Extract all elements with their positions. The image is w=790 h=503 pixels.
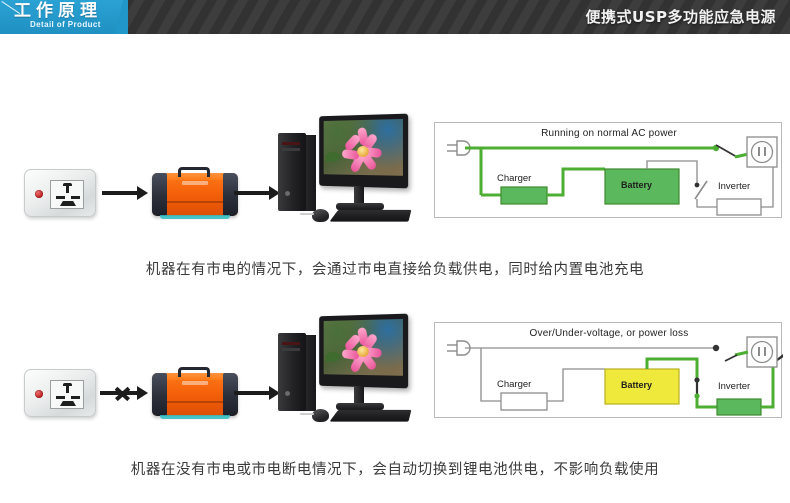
socket-outlet-face: [50, 380, 84, 409]
desktop-computer-load: [272, 111, 412, 226]
charger-input-line: [481, 348, 501, 401]
computer-tower: [278, 333, 306, 411]
section-tag-subtitle-en: Detail of Product: [30, 20, 101, 30]
inverter-output-line: [761, 163, 773, 207]
wall-socket: [24, 369, 96, 417]
desktop-computer-load: [272, 311, 412, 426]
computer-tower: [278, 133, 306, 211]
section-tag: 工作原理 Detail of Product: [0, 0, 128, 34]
socket-pin-left: [56, 396, 65, 399]
tower-drive-slot: [282, 148, 300, 151]
charger-box: [501, 187, 547, 204]
monitor-stand-neck: [354, 387, 364, 404]
powerbank-brand-label: [182, 381, 208, 385]
wallpaper-flower: [344, 132, 383, 171]
inverter-input-line-active: [697, 396, 717, 407]
inverter-output-line-active: [761, 363, 773, 407]
page-root: 工作原理 Detail of Product 便携式USP多功能应急电源: [0, 0, 790, 503]
inverter-input-line: [697, 199, 717, 207]
battery-label: Battery: [621, 380, 652, 390]
tower-drive-slot: [282, 342, 300, 345]
outlet-feed-line: [735, 352, 748, 355]
monitor-stand-neck: [354, 187, 364, 204]
circuit-schematic: [435, 123, 783, 219]
tower-power-led: [285, 191, 290, 196]
wallpaper-leaf: [325, 352, 340, 362]
product-title: 便携式USP多功能应急电源: [586, 7, 776, 27]
flower-center: [357, 146, 369, 157]
circuit-diagram-normal-ac: Running on normal AC power: [434, 122, 782, 218]
charger-to-battery-line: [547, 369, 605, 401]
arrow-shaft: [234, 191, 270, 195]
tower-drive-slot: [282, 142, 300, 145]
powerbank-base: [160, 215, 230, 219]
socket-pin-top: [66, 184, 69, 193]
socket-indicator-led: [35, 190, 43, 198]
charger-to-battery-line: [547, 169, 605, 195]
arrow-head: [137, 386, 148, 400]
inverter-label: Inverter: [718, 181, 750, 192]
wall-socket: [24, 169, 96, 217]
charger-label: Charger: [497, 173, 531, 184]
powerbank-handle: [178, 367, 210, 377]
tower-drive-slot: [282, 348, 300, 351]
socket-pin-bottom: [60, 401, 76, 406]
page-header: 工作原理 Detail of Product 便携式USP多功能应急电源: [0, 0, 790, 34]
inverter-switch-node: [695, 183, 700, 188]
computer-monitor: [319, 314, 408, 389]
wallpaper-flower: [344, 332, 383, 371]
output-outlet-icon: [747, 137, 777, 167]
computer-keyboard: [329, 410, 411, 422]
powerbank-brand-label: [182, 181, 208, 185]
transfer-switch-blade: [716, 145, 737, 157]
flow-arrow-socket-to-powerbank: [102, 186, 148, 200]
socket-pin-right: [71, 196, 80, 199]
inverter-box: [717, 199, 761, 215]
inverter-box: [717, 399, 761, 415]
transfer-switch-blade-upper: [725, 355, 737, 361]
inverter-label: Inverter: [718, 381, 750, 392]
tower-power-led: [285, 391, 290, 396]
flow-arrow-blocked-socket-to-powerbank: [100, 386, 148, 400]
caption-power-loss: 机器在没有市电或市电断电情况下，会自动切换到锂电池供电，不影响负载使用: [0, 458, 790, 479]
powerbank-base: [160, 415, 230, 419]
socket-pin-right: [71, 396, 80, 399]
socket-pin-left: [56, 196, 65, 199]
battery-label: Battery: [621, 180, 652, 190]
bypass-node-open: [713, 345, 719, 351]
arrow-head: [137, 186, 148, 200]
socket-pin-top: [66, 384, 69, 393]
flower-center: [357, 346, 369, 357]
computer-mouse: [312, 409, 329, 422]
arrow-shaft: [234, 391, 270, 395]
socket-pin-bottom: [60, 201, 76, 206]
powerbank-left-cap: [152, 173, 167, 216]
portable-power-station: [152, 165, 238, 219]
socket-outlet-face: [50, 180, 84, 209]
monitor-screen-wallpaper: [324, 319, 403, 376]
powerbank-seam: [167, 401, 223, 403]
circuit-diagram-power-loss: Over/Under-voltage, or power loss: [434, 322, 782, 418]
charger-label: Charger: [497, 379, 531, 390]
blocked-x-icon: [114, 385, 130, 401]
powerbank-handle: [178, 167, 210, 177]
portable-power-station: [152, 365, 238, 419]
computer-monitor: [319, 114, 408, 189]
diagram-row-power-loss: Over/Under-voltage, or power loss: [0, 305, 790, 435]
computer-keyboard: [329, 210, 411, 222]
output-outlet-icon: [747, 337, 777, 367]
circuit-schematic: [435, 323, 783, 419]
monitor-screen-wallpaper: [324, 119, 403, 176]
wallpaper-leaf: [325, 152, 340, 162]
computer-mouse: [312, 209, 329, 222]
arrow-shaft: [102, 191, 138, 195]
socket-indicator-led: [35, 390, 43, 398]
powerbank-left-cap: [152, 373, 167, 416]
powerbank-seam: [167, 201, 223, 203]
caption-normal-ac: 机器在有市电的情况下，会通过市电直接给负载供电，同时给内置电池充电: [0, 258, 790, 279]
section-tag-title-cn: 工作原理: [14, 1, 102, 22]
charger-box: [501, 393, 547, 410]
diagram-row-normal-ac: Running on normal AC power: [0, 105, 790, 235]
